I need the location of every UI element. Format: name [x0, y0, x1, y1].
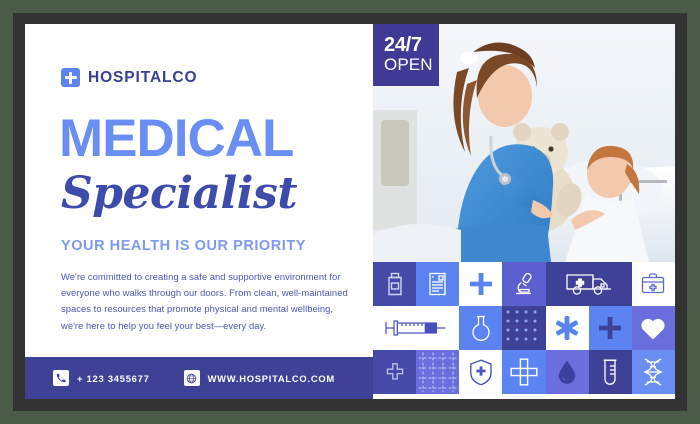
flask-icon — [459, 306, 502, 350]
contact-footer-bar: + 123 3455677 WWW.HOSPITA — [25, 357, 373, 399]
medicine-bottle-icon — [373, 262, 416, 306]
medical-cross-icon — [61, 68, 80, 87]
poster-canvas: HOSPITALCO MEDICAL Specialist YOUR HEALT… — [25, 24, 675, 399]
poster-stage: HOSPITALCO MEDICAL Specialist YOUR HEALT… — [0, 0, 700, 424]
left-content-column: HOSPITALCO MEDICAL Specialist YOUR HEALT… — [25, 24, 373, 399]
cross-outline-icon — [502, 350, 545, 394]
website-url: WWW.HOSPITALCO.COM — [208, 373, 335, 384]
first-aid-kit-icon — [632, 262, 675, 306]
syringe-icon — [373, 306, 459, 350]
phone-number: + 123 3455677 — [77, 373, 150, 384]
heart-icon — [632, 306, 675, 350]
small-cross-icon — [373, 350, 416, 394]
shield-cross-icon — [459, 350, 502, 394]
poster-frame: HOSPITALCO MEDICAL Specialist YOUR HEALT… — [13, 13, 687, 411]
dna-helix-icon — [632, 350, 675, 394]
badge-status: OPEN — [384, 56, 439, 75]
hero-photo: 24/7 OPEN — [373, 24, 675, 262]
test-tube-icon — [589, 350, 632, 394]
asterisk-star-icon — [546, 306, 589, 350]
website-contact[interactable]: WWW.HOSPITALCO.COM — [184, 370, 335, 386]
globe-icon — [184, 370, 200, 386]
page-title: MEDICAL — [59, 114, 293, 164]
right-media-column: 24/7 OPEN — [373, 24, 675, 399]
blood-drop-icon — [546, 350, 589, 394]
page-subtitle: Specialist — [61, 172, 297, 216]
cross-icon — [589, 306, 632, 350]
medical-icon-grid — [373, 262, 675, 394]
body-paragraph: We're committed to creating a safe and s… — [61, 269, 349, 334]
phone-icon — [53, 370, 69, 386]
clipboard-document-icon — [416, 262, 459, 306]
phone-contact[interactable]: + 123 3455677 — [53, 370, 150, 386]
open-hours-badge: 24/7 OPEN — [373, 24, 439, 86]
microscope-icon — [502, 262, 545, 306]
ambulance-icon — [546, 262, 632, 306]
tagline: YOUR HEALTH IS OUR PRIORITY — [61, 238, 306, 254]
dot-pattern-icon — [502, 306, 545, 350]
cross-icon — [459, 262, 502, 306]
dotted-cross-pattern-icon — [416, 350, 459, 394]
brand-name: HOSPITALCO — [88, 70, 197, 86]
badge-hours: 24/7 — [384, 35, 439, 56]
brand-logo[interactable]: HOSPITALCO — [61, 68, 197, 87]
